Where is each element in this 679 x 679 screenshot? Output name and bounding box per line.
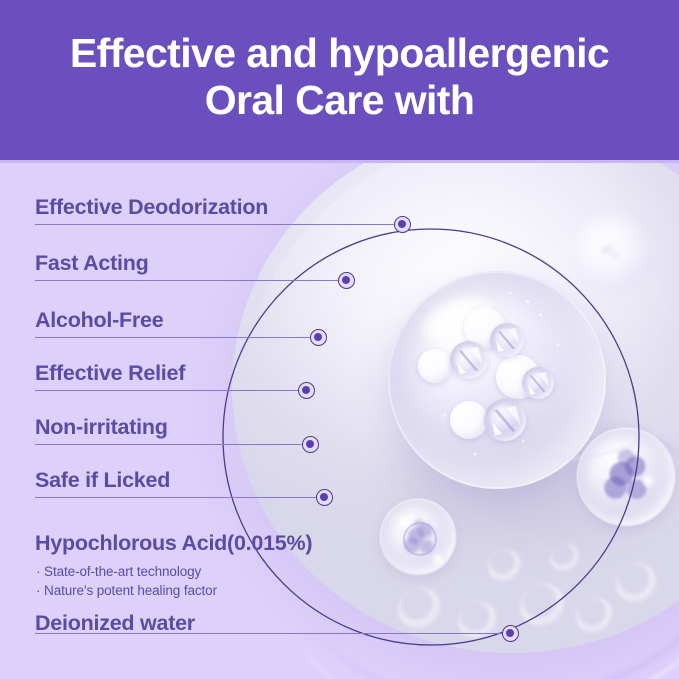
- connector-dot-core: [302, 386, 310, 394]
- feature-label-safe-if-licked: Safe if Licked: [35, 470, 170, 492]
- connector-dot-effective-deodorization[interactable]: [394, 216, 411, 233]
- water-row: Deionized water: [35, 613, 195, 635]
- connector-dot-alcohol-free[interactable]: [310, 329, 327, 346]
- connector-dot-core: [398, 220, 406, 228]
- ingredient-block: Hypochlorous Acid(0.015%): [35, 533, 312, 555]
- header-divider: [0, 160, 679, 163]
- connector-dot-fast-acting[interactable]: [338, 272, 355, 289]
- connector-dot-deionized-water[interactable]: [502, 625, 519, 642]
- feature-row: Alcohol-Free: [35, 310, 163, 332]
- feature-row: Non-irritating: [35, 417, 168, 439]
- feature-label-effective-relief: Effective Relief: [35, 363, 185, 385]
- feature-row: Effective Relief: [35, 363, 185, 385]
- connector-dot-core: [320, 493, 328, 501]
- ingredient-bullet-2: · Nature's potent healing factor: [36, 581, 217, 600]
- connector-dot-core: [342, 276, 350, 284]
- header-title-line-1: Effective and hypoallergenic: [70, 30, 609, 77]
- connector-dot-non-irritating[interactable]: [302, 436, 319, 453]
- header-title-line-2: Oral Care with: [70, 77, 609, 124]
- header-title-block: Effective and hypoallergenic Oral Care w…: [70, 30, 609, 130]
- connector-dot-effective-relief[interactable]: [298, 382, 315, 399]
- feature-row: Fast Acting: [35, 253, 149, 275]
- water-underline: [35, 633, 510, 634]
- connector-dot-core: [314, 333, 322, 341]
- feature-label-effective-deodorization: Effective Deodorization: [35, 197, 268, 219]
- feature-row: Effective Deodorization: [35, 197, 268, 219]
- connector-dot-safe-if-licked[interactable]: [316, 489, 333, 506]
- feature-label-non-irritating: Non-irritating: [35, 417, 168, 439]
- ingredient-bullet-1: · State-of-the-art technology: [36, 562, 217, 581]
- feature-underline: [35, 224, 402, 225]
- connector-dot-core: [306, 440, 314, 448]
- ingredient-title: Hypochlorous Acid(0.015%): [35, 533, 312, 555]
- feature-row: Safe if Licked: [35, 470, 170, 492]
- feature-underline: [35, 390, 306, 391]
- header-banner: Effective and hypoallergenic Oral Care w…: [0, 0, 679, 160]
- connector-dot-core: [506, 629, 514, 637]
- feature-label-alcohol-free: Alcohol-Free: [35, 310, 163, 332]
- feature-underline: [35, 280, 346, 281]
- ingredient-bullets: · State-of-the-art technology · Nature's…: [36, 562, 217, 600]
- product-feature-poster: Effective and hypoallergenic Oral Care w…: [0, 0, 679, 679]
- feature-underline: [35, 497, 324, 498]
- feature-label-fast-acting: Fast Acting: [35, 253, 149, 275]
- feature-underline: [35, 337, 318, 338]
- feature-underline: [35, 444, 310, 445]
- feature-label-deionized-water: Deionized water: [35, 613, 195, 635]
